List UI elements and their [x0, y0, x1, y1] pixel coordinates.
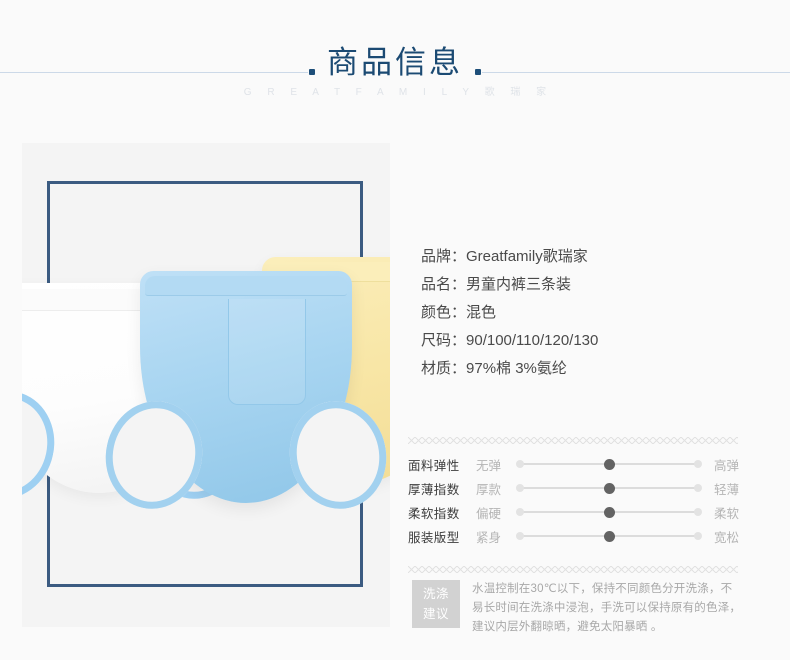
spec-value-color: 混色 — [466, 304, 496, 321]
attribute-name-thickness: 厚薄指数 — [408, 479, 476, 498]
attribute-min-thickness: 厚款 — [476, 479, 514, 498]
slider-node-start — [516, 532, 524, 540]
slider-node-end — [694, 508, 702, 516]
attribute-name-softness: 柔软指数 — [408, 503, 476, 522]
attribute-name-elasticity: 面料弹性 — [408, 455, 476, 474]
spec-label-material: 材质： — [421, 360, 466, 377]
slider-thumb[interactable] — [604, 483, 615, 494]
attribute-slider-elasticity[interactable] — [516, 458, 702, 470]
wash-care-badge: 洗涤 建议 — [412, 580, 460, 628]
page-header: 商品信息 G R E A T F A M I L Y 歌 瑞 家 — [0, 0, 790, 120]
spec-row-name: 品名：男童内裤三条装 — [421, 271, 761, 299]
slider-node-end — [694, 484, 702, 492]
wash-care-badge-line2: 建议 — [412, 604, 460, 624]
spec-row-size: 尺码：90/100/110/120/130 — [421, 327, 761, 355]
wash-care-section: 洗涤 建议 水温控制在30℃以下，保持不同颜色分开洗涤，不易长时间在洗涤中浸泡，… — [412, 580, 742, 637]
page-title: 商品信息 — [0, 44, 790, 82]
attribute-row-softness: 柔软指数 偏硬 柔软 — [408, 500, 742, 524]
slider-node-start — [516, 484, 524, 492]
spec-label-brand: 品牌： — [421, 248, 466, 265]
spec-label-color: 颜色： — [421, 304, 466, 321]
attribute-slider-thickness[interactable] — [516, 482, 702, 494]
slider-node-start — [516, 460, 524, 468]
attribute-max-fit: 宽松 — [704, 527, 742, 546]
waistband-blue — [145, 276, 347, 296]
spec-row-color: 颜色：混色 — [421, 299, 761, 327]
attribute-max-softness: 柔软 — [704, 503, 742, 522]
brand-subtitle: G R E A T F A M I L Y 歌 瑞 家 — [0, 86, 790, 100]
product-image-panel — [22, 143, 390, 627]
wash-care-text: 水温控制在30℃以下，保持不同颜色分开洗涤，不易长时间在洗涤中浸泡，手洗可以保持… — [460, 580, 742, 637]
slider-node-end — [694, 460, 702, 468]
attribute-slider-fit[interactable] — [516, 530, 702, 542]
attribute-min-fit: 紧身 — [476, 527, 514, 546]
spec-row-material: 材质：97%棉 3%氨纶 — [421, 355, 761, 383]
spec-label-size: 尺码： — [421, 332, 466, 349]
attribute-name-fit: 服装版型 — [408, 527, 476, 546]
zigzag-divider-top — [408, 437, 738, 444]
slider-thumb[interactable] — [604, 459, 615, 470]
product-spec-list: 品牌：Greatfamily歌瑞家 品名：男童内裤三条装 颜色：混色 尺码：90… — [421, 243, 761, 383]
attribute-min-softness: 偏硬 — [476, 503, 514, 522]
spec-value-name: 男童内裤三条装 — [466, 276, 571, 293]
spec-label-name: 品名： — [421, 276, 466, 293]
wash-care-badge-line1: 洗涤 — [412, 584, 460, 604]
leg-opening-yellow-right — [386, 372, 390, 498]
spec-value-brand: Greatfamily歌瑞家 — [466, 248, 588, 265]
slider-thumb[interactable] — [604, 531, 615, 542]
attribute-row-elasticity: 面料弹性 无弹 高弹 — [408, 452, 742, 476]
spec-row-brand: 品牌：Greatfamily歌瑞家 — [421, 243, 761, 271]
spec-value-material: 97%棉 3%氨纶 — [466, 360, 567, 377]
attribute-rating-list: 面料弹性 无弹 高弹 厚薄指数 厚款 轻薄 柔软指数 偏硬 柔软 — [408, 452, 742, 548]
slider-node-start — [516, 508, 524, 516]
slider-node-end — [694, 532, 702, 540]
slider-thumb[interactable] — [604, 507, 615, 518]
attribute-min-elasticity: 无弹 — [476, 455, 514, 474]
attribute-slider-softness[interactable] — [516, 506, 702, 518]
attribute-max-thickness: 轻薄 — [704, 479, 742, 498]
product-item-blue — [140, 271, 352, 503]
fly-panel-blue — [228, 299, 306, 405]
attribute-row-fit: 服装版型 紧身 宽松 — [408, 524, 742, 548]
spec-value-size: 90/100/110/120/130 — [466, 332, 598, 349]
attribute-row-thickness: 厚薄指数 厚款 轻薄 — [408, 476, 742, 500]
zigzag-divider-bottom — [408, 566, 738, 573]
attribute-max-elasticity: 高弹 — [704, 455, 742, 474]
